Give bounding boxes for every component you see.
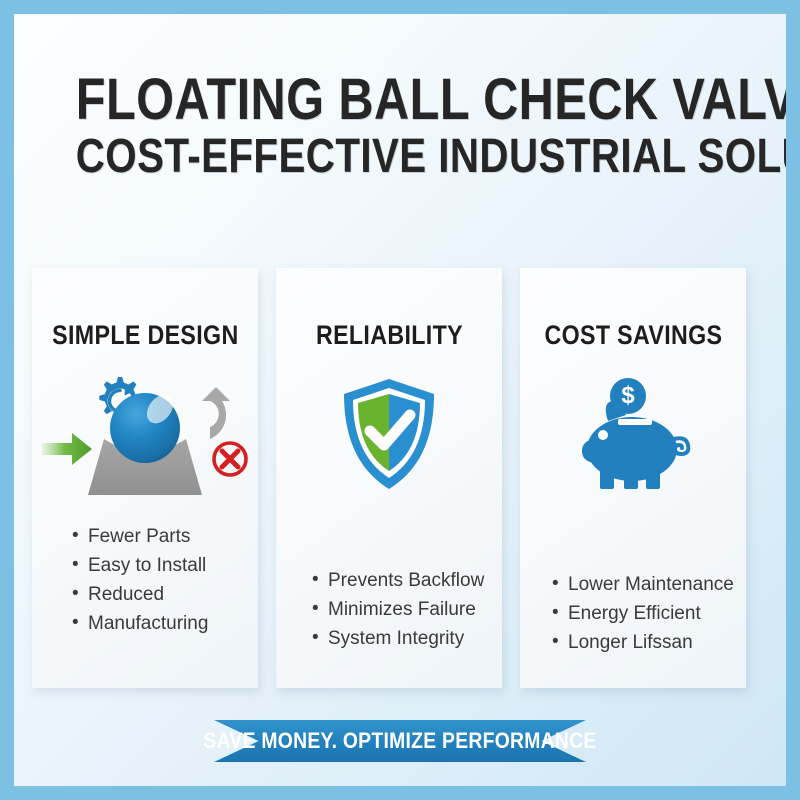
page-title: FLOATING BALL CHECK VALVES: COST-EFFECTI… [14,70,786,182]
card-bullet-list: Fewer Parts Easy to Install Reduced Manu… [72,523,258,639]
eye-shape [598,430,608,440]
list-item: Prevents Backflow [312,567,502,596]
list-item: Longer Lifssan [552,629,746,658]
feature-card-group: SIMPLE DESIGN [32,268,746,688]
list-item: Lower Maintenance [552,571,746,600]
ribbon-label: SAVE MONEY. OPTIMIZE PERFORMANCE [236,720,563,762]
list-item: Fewer Parts [72,523,258,552]
poster-canvas: FLOATING BALL CHECK VALVES: COST-EFFECTI… [14,14,786,786]
card-heading: SIMPLE DESIGN [52,320,238,351]
title-line-primary: FLOATING BALL CHECK VALVES: [76,70,724,129]
list-item: Reduced [72,581,258,610]
feature-card-reliability: RELIABILITY [276,268,502,688]
shield-check-icon [284,373,494,513]
coin-slot-shape [618,419,652,425]
list-item: System Integrity [312,625,502,654]
dollar-sign-glyph: $ [621,382,635,409]
card-heading: COST SAVINGS [544,320,722,351]
title-line-secondary: COST-EFFECTIVE INDUSTRIAL SOLUTIONS [76,133,724,182]
list-item: Manufacturing [72,610,258,639]
flow-arrow-icon [42,433,92,465]
card-bullet-list: Prevents Backflow Minimizes Failure Syst… [312,567,502,654]
no-backflow-icon [214,443,246,475]
return-arrow-icon [202,387,230,439]
card-heading: RELIABILITY [316,320,463,351]
floating-ball-valve-illustration [40,365,250,505]
infographic-poster: FLOATING BALL CHECK VALVES: COST-EFFECTI… [0,0,800,800]
feature-card-cost-savings: COST SAVINGS [520,268,746,688]
card-bullet-list: Lower Maintenance Energy Efficient Longe… [552,571,746,658]
list-item: Minimizes Failure [312,596,502,625]
feature-card-simple-design: SIMPLE DESIGN [32,268,258,688]
list-item: Easy to Install [72,552,258,581]
list-item: Energy Efficient [552,600,746,629]
tagline-ribbon-banner: SAVE MONEY. OPTIMIZE PERFORMANCE [214,720,586,762]
piggy-bank-icon: $ [528,373,738,513]
